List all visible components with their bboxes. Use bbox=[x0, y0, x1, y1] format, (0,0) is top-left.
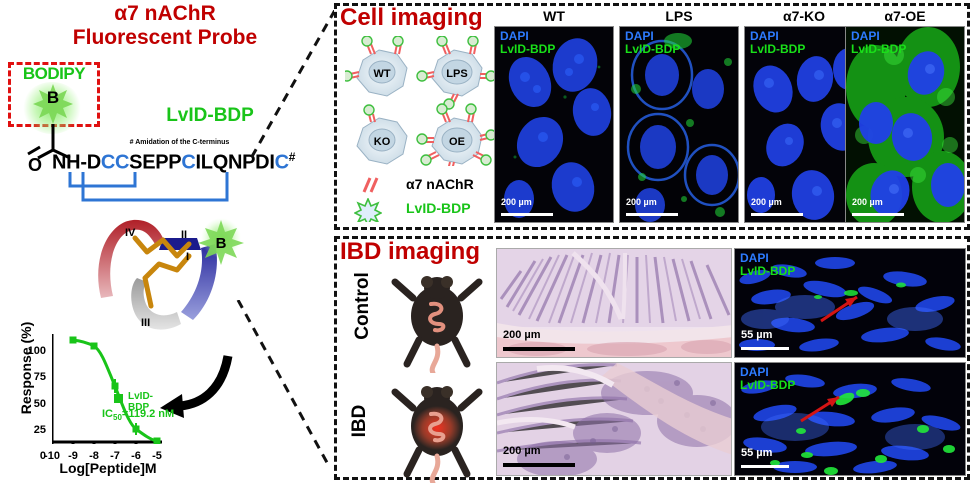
cell-image-oe-dapi-label: DAPI bbox=[851, 29, 880, 43]
he-image-ibd[interactable]: 200 µm bbox=[496, 362, 732, 476]
cell-image-ko-scalebar bbox=[751, 213, 803, 216]
connector-line-bottom bbox=[230, 300, 340, 480]
mouse-illustration-control bbox=[385, 268, 490, 373]
cell-image-title-wt: WT bbox=[495, 8, 613, 24]
svg-text:LPS: LPS bbox=[446, 68, 467, 80]
sequence-residue: N bbox=[52, 152, 66, 174]
svg-text:II: II bbox=[181, 229, 187, 241]
he-image-ibd-content bbox=[497, 363, 732, 476]
cell-image-ko-probe-label: LvID-BDP bbox=[750, 42, 805, 56]
chart-ytick-50: 50 bbox=[20, 398, 46, 410]
svg-text:WT: WT bbox=[373, 68, 390, 80]
svg-text:IV: IV bbox=[125, 227, 136, 239]
legend-label-receptor: α7 nAChR bbox=[406, 176, 474, 192]
cell-image-ko-scalebar-label: 200 µm bbox=[751, 197, 782, 207]
sequence-residue: L bbox=[201, 152, 213, 174]
mouse-illustration-ibd bbox=[385, 378, 490, 483]
cell-image-lps-scalebar bbox=[626, 213, 678, 216]
chart-legend-marker bbox=[114, 394, 123, 403]
cell-image-oe-scalebar bbox=[852, 213, 904, 216]
carbonyl-oxygen-atom: O bbox=[28, 155, 42, 176]
sequence-residue: P bbox=[168, 152, 181, 174]
cell-image-oe-content bbox=[846, 27, 965, 223]
tissue-image-control-scalebar bbox=[741, 347, 789, 350]
he-image-control-content bbox=[497, 249, 732, 358]
sequence-residue: C bbox=[101, 152, 115, 174]
legend-label-probe: LvID-BDP bbox=[406, 200, 471, 216]
receptor-icon bbox=[358, 176, 388, 194]
tissue-image-control-dapi-label: DAPI bbox=[740, 251, 769, 265]
cell-image-wt-probe-label: LvID-BDP bbox=[500, 42, 555, 56]
sequence-residue: D bbox=[87, 152, 101, 174]
cell-image-title-oe: α7-OE bbox=[846, 8, 964, 24]
tissue-image-ibd-probe-label: LvID-BDP bbox=[740, 378, 795, 392]
cell-image-wt[interactable]: DAPI LvID-BDP 200 µm bbox=[494, 26, 614, 223]
amidation-note: # Amidation of the C-terminus bbox=[112, 139, 247, 146]
svg-text:I: I bbox=[186, 251, 189, 263]
tissue-image-ibd-scalebar bbox=[741, 465, 789, 468]
cell-image-wt-dapi-label: DAPI bbox=[500, 29, 529, 43]
chart-x-axis-label: Log[Peptide]M bbox=[38, 460, 178, 476]
chart-curve bbox=[52, 334, 162, 444]
cell-image-wt-content bbox=[495, 27, 614, 223]
cell-image-oe-probe-label: LvID-BDP bbox=[851, 42, 906, 56]
cell-image-lps-scalebar-label: 200 µm bbox=[626, 197, 657, 207]
sequence-residue: C bbox=[115, 152, 129, 174]
dose-response-chart: Response (%) bbox=[4, 318, 176, 480]
cell-image-lps-probe-label: LvID-BDP bbox=[625, 42, 680, 56]
cell-image-lps-dapi-label: DAPI bbox=[625, 29, 654, 43]
bodipy-label: BODIPY bbox=[12, 64, 96, 84]
tissue-image-ibd-dapi-label: DAPI bbox=[740, 365, 769, 379]
sequence-residue: E bbox=[142, 152, 155, 174]
he-image-control-scalebar-label: 200 µm bbox=[503, 329, 541, 341]
sequence-residue: S bbox=[129, 152, 142, 174]
probe-icon bbox=[354, 198, 382, 222]
tissue-image-ibd-scalebar-label: 55 µm bbox=[741, 447, 772, 459]
cell-image-wt-scalebar bbox=[501, 213, 553, 216]
chart-ytick-25: 25 bbox=[20, 424, 46, 436]
svg-text:KO: KO bbox=[374, 136, 391, 148]
he-image-control-scalebar bbox=[503, 347, 575, 351]
cell-image-lps[interactable]: DAPI LvID-BDP 200 µm bbox=[619, 26, 739, 223]
tissue-image-control-scalebar-label: 55 µm bbox=[741, 329, 772, 341]
cell-image-oe-scalebar-label: 200 µm bbox=[852, 197, 883, 207]
cell-image-oe[interactable]: DAPI LvID-BDP 200 µm bbox=[845, 26, 965, 223]
sequence-residue: H bbox=[66, 152, 80, 174]
connector-line-top bbox=[240, 10, 340, 170]
chart-ic50-annotation: IC50=119.2 nM bbox=[102, 408, 174, 422]
cell-image-lps-content bbox=[620, 27, 739, 223]
he-image-control[interactable]: 200 µm bbox=[496, 248, 732, 358]
chart-ytick-75: 75 bbox=[20, 371, 46, 383]
tissue-image-ibd[interactable]: DAPI LvID-BDP 55 µm bbox=[734, 362, 966, 476]
tissue-image-control-probe-label: LvID-BDP bbox=[740, 264, 795, 278]
svg-text:B: B bbox=[216, 235, 227, 252]
he-image-ibd-scalebar-label: 200 µm bbox=[503, 445, 541, 457]
sequence-residue: C bbox=[181, 152, 195, 174]
cell-image-ko-dapi-label: DAPI bbox=[750, 29, 779, 43]
cell-image-wt-scalebar-label: 200 µm bbox=[501, 197, 532, 207]
disulfide-bond-lines bbox=[50, 172, 280, 212]
sequence-residue: P bbox=[155, 152, 168, 174]
sequence-residue: Q bbox=[213, 152, 228, 174]
cell-image-title-lps: LPS bbox=[620, 8, 738, 24]
tissue-image-control[interactable]: DAPI LvID-BDP 55 µm bbox=[734, 248, 966, 358]
cell-schematic-diagram: WT LPS KO OE bbox=[345, 36, 495, 166]
ibd-row-label-control: Control bbox=[352, 261, 374, 351]
he-image-ibd-scalebar bbox=[503, 463, 575, 467]
svg-text:OE: OE bbox=[449, 136, 465, 148]
chart-plot-area: LvID-BDP IC50=119.2 nM bbox=[52, 334, 162, 444]
cell-imaging-title: Cell imaging bbox=[340, 4, 483, 32]
chart-ytick-100: 100 bbox=[20, 345, 46, 357]
ibd-row-label-ibd: IBD bbox=[349, 391, 371, 451]
